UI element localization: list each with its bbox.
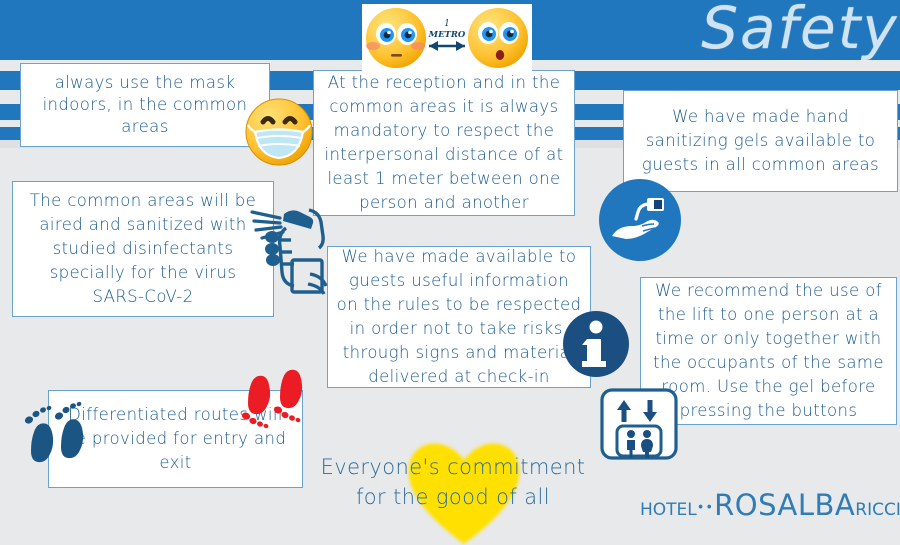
card-info-text: We have made available to guests useful … bbox=[328, 245, 590, 389]
slogan-line-2: for the good of all bbox=[308, 482, 598, 512]
svg-text:METRO: METRO bbox=[428, 30, 466, 40]
card-mask: always use the mask indoors, in the comm… bbox=[20, 63, 270, 147]
card-lift: We recommend the use of the lift to one … bbox=[640, 277, 897, 425]
slogan: Everyone's commitment for the good of al… bbox=[308, 452, 598, 512]
logo-dots: •• bbox=[697, 501, 714, 516]
red-footprints-icon bbox=[234, 368, 320, 440]
card-air-sanitize: The common areas will be aired and sanit… bbox=[12, 181, 274, 317]
page-title: Safety bbox=[700, 0, 900, 60]
card-sanitizing-gel: We have made hand sanitizing gels availa… bbox=[623, 90, 898, 192]
card-information: We have made available to guests useful … bbox=[327, 246, 591, 388]
hand-sanitizer-gel-icon bbox=[598, 178, 682, 262]
card-sanitize-text: The common areas will be aired and sanit… bbox=[13, 189, 273, 309]
mask-face-emoji bbox=[243, 96, 315, 168]
card-lift-text: We recommend the use of the lift to one … bbox=[641, 279, 896, 423]
card-distance: At the reception and in the common areas… bbox=[313, 70, 575, 216]
two-faces-distance-emoji: 1 METRO bbox=[362, 4, 532, 74]
card-mask-text: always use the mask indoors, in the comm… bbox=[21, 72, 269, 138]
logo-name: ROSALBA bbox=[714, 488, 855, 522]
logo-hotel: HOTEL bbox=[640, 500, 697, 520]
logo-city: RICCIONE bbox=[855, 500, 900, 520]
hotel-logo: HOTEL••ROSALBARICCIONE bbox=[640, 488, 890, 522]
safety-infographic-poster: Safety always use the mask indoors, in t… bbox=[0, 0, 900, 545]
spray-hand-icon bbox=[250, 188, 346, 300]
elevator-icon bbox=[600, 388, 678, 460]
svg-text:1: 1 bbox=[444, 19, 450, 29]
card-distance-text: At the reception and in the common areas… bbox=[314, 71, 574, 215]
blue-footprints-icon bbox=[18, 400, 104, 478]
information-icon bbox=[562, 310, 630, 378]
slogan-line-1: Everyone's commitment bbox=[308, 452, 598, 482]
card-gel-text: We have made hand sanitizing gels availa… bbox=[624, 105, 897, 177]
